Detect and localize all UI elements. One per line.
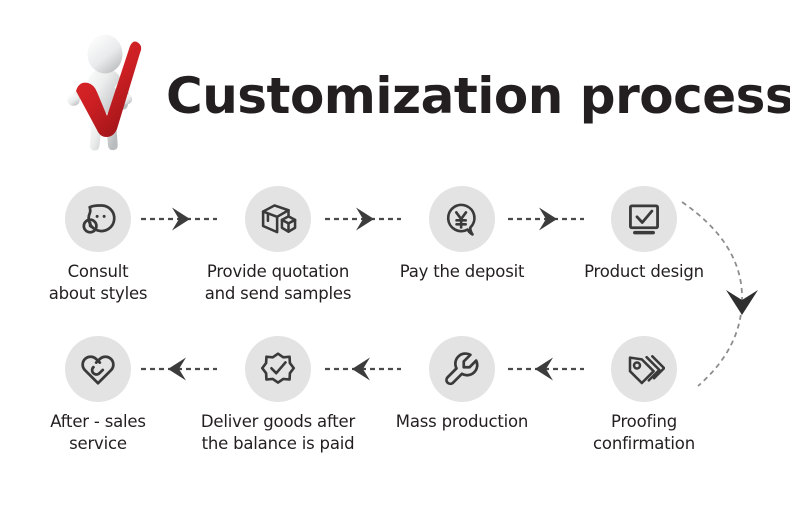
flow-step-label: Proofing confirmation xyxy=(593,411,695,455)
flow-step-product-design[interactable]: Product design xyxy=(556,186,732,283)
flow-step-pay-the-deposit[interactable]: Pay the deposit xyxy=(374,186,550,283)
flow-row-2: After - sales service Deliver goods afte… xyxy=(0,336,790,486)
monitor-checkmark-icon xyxy=(611,186,677,252)
header: Customization process xyxy=(0,24,790,164)
flow-step-label: Pay the deposit xyxy=(400,261,525,283)
badge-checkmark-icon xyxy=(245,336,311,402)
page-title: Customization process xyxy=(166,71,790,121)
flow-step-label: Product design xyxy=(584,261,704,283)
flow-row-1: Consult about styles Provi xyxy=(0,186,790,336)
flow-step-mass-production[interactable]: Mass production xyxy=(374,336,550,433)
flow-step-label: Deliver goods after the balance is paid xyxy=(201,411,355,455)
person-with-red-checkmark-icon xyxy=(58,31,154,157)
flow-step-proofing-confirmation[interactable]: Proofing confirmation xyxy=(556,336,732,455)
flow-step-label: Provide quotation and send samples xyxy=(205,261,352,305)
package-box-icon xyxy=(245,186,311,252)
infographic-canvas: Customization process Consult about styl… xyxy=(0,0,790,510)
wrench-icon xyxy=(429,336,495,402)
flow-step-label: After - sales service xyxy=(50,411,146,455)
flow-step-label: Mass production xyxy=(396,411,528,433)
chat-bubble-face-clock-icon xyxy=(65,186,131,252)
flow-step-label: Consult about styles xyxy=(49,261,148,305)
interlocked-heart-icon xyxy=(65,336,131,402)
yen-speech-bubble-icon xyxy=(429,186,495,252)
price-tags-icon xyxy=(611,336,677,402)
